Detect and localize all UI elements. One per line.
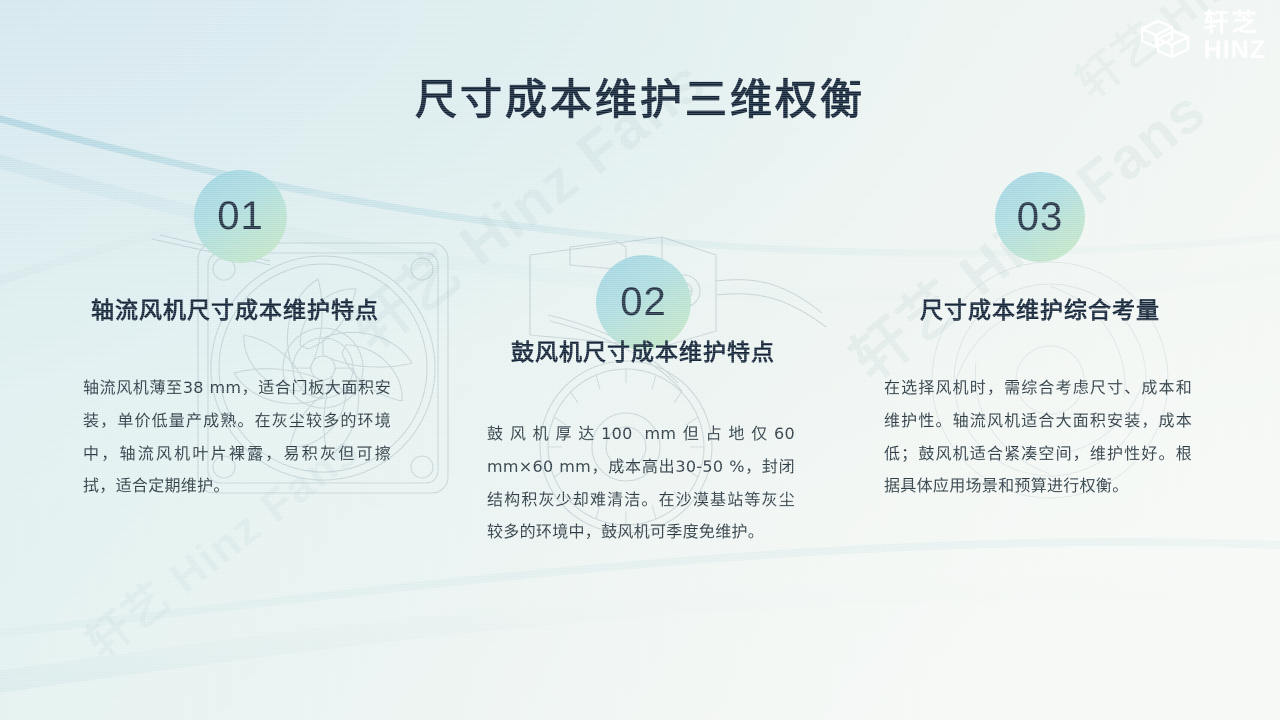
- column-01-body: 轴流风机薄至38 mm，适合门板大面积安装，单价低量产成熟。在灰尘较多的环境中，…: [83, 372, 391, 503]
- page-title: 尺寸成本维护三维权衡: [0, 66, 1280, 127]
- logo-wordmark: 轩芝 HINZ: [1204, 10, 1266, 63]
- step-badge-01: 01: [194, 170, 287, 263]
- step-number-01: 01: [217, 194, 264, 239]
- column-02-heading: 鼓风机尺寸成本维护特点: [478, 337, 808, 370]
- step-badge-03: 03: [995, 172, 1085, 262]
- column-01-heading: 轴流风机尺寸成本维护特点: [70, 295, 400, 328]
- isometric-cube-logo-icon: [1138, 13, 1196, 61]
- brand-logo: 轩芝 HINZ: [1138, 10, 1266, 63]
- logo-chinese-name: 轩芝: [1204, 10, 1266, 35]
- step-badge-02: 02: [596, 255, 691, 350]
- slide-canvas: 轩艺 Hinz Fans 轩艺 Hinz Fans 轩艺 Hinz Fans 轩…: [0, 0, 1280, 720]
- column-03-body: 在选择风机时，需综合考虑尺寸、成本和维护性。轴流风机适合大面积安装，成本低；鼓风…: [884, 372, 1192, 503]
- column-02-body: 鼓风机厚达100 mm但占地仅60 mm×60 mm，成本高出30-50 %，封…: [487, 418, 795, 549]
- step-number-02: 02: [620, 280, 667, 325]
- logo-english-name: HINZ: [1204, 38, 1266, 63]
- column-03-heading: 尺寸成本维护综合考量: [875, 295, 1205, 328]
- step-number-03: 03: [1017, 195, 1064, 240]
